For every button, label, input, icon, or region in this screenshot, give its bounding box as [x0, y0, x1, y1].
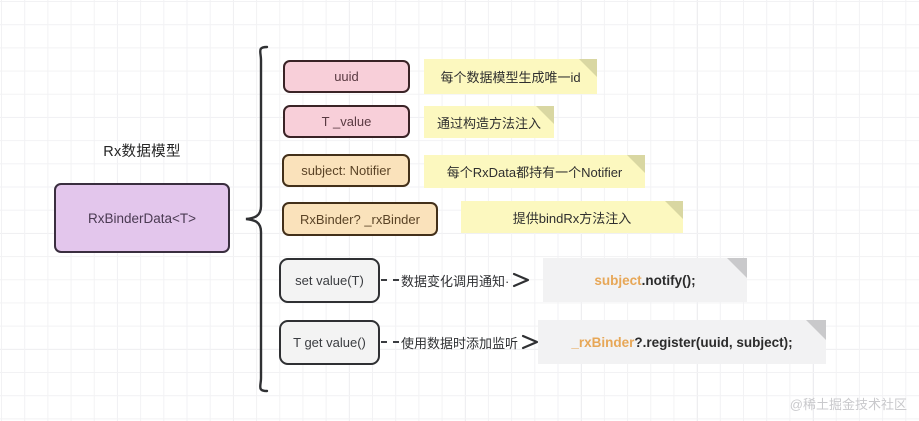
- note-rxbinder: 提供bindRx方法注入: [461, 201, 683, 233]
- diagram-canvas: Rx数据模型 RxBinderData<T> uuid 每个数据模型生成唯一id…: [0, 0, 919, 421]
- code-rest-notify: .notify();: [642, 273, 696, 288]
- field-chip-uuid[interactable]: uuid: [283, 60, 410, 93]
- grouping-brace: [243, 44, 269, 394]
- brace-icon: [243, 44, 269, 394]
- watermark: @稀土掘金技术社区: [790, 394, 907, 413]
- code-rest-register: ?.register(uuid, subject);: [634, 335, 792, 350]
- note-subject: 每个RxData都持有一个Notifier: [424, 155, 645, 188]
- note-fold-corner-icon: [665, 201, 683, 219]
- note-fold-corner-icon: [579, 59, 597, 77]
- note-fold-corner-icon: [727, 258, 747, 278]
- arrow-head-icon: [511, 271, 533, 289]
- field-chip-t-value[interactable]: T _value: [283, 105, 410, 138]
- connector-get-value: 使用数据时添加监听: [381, 327, 542, 357]
- connector-set-value: 数据变化调用通知·: [381, 265, 533, 295]
- code-keyword-subject: subject: [594, 273, 641, 288]
- dashed-line: [381, 279, 399, 281]
- code-line-register: _rxBinder?.register(uuid, subject);: [571, 335, 792, 350]
- note-t-value: 通过构造方法注入: [424, 106, 554, 138]
- note-fold-corner-icon: [806, 320, 826, 340]
- method-chip-set-value[interactable]: set value(T): [279, 258, 380, 303]
- root-title: Rx数据模型: [54, 140, 230, 161]
- field-chip-rxbinder[interactable]: RxBinder? _rxBinder: [282, 202, 438, 236]
- field-chip-subject[interactable]: subject: Notifier: [282, 154, 410, 187]
- code-line-notify: subject.notify();: [594, 273, 695, 288]
- note-uuid: 每个数据模型生成唯一id: [424, 59, 597, 94]
- dashed-line: [381, 341, 399, 343]
- code-keyword-rxbinder: _rxBinder: [571, 335, 634, 350]
- code-note-notify: subject.notify();: [543, 258, 747, 302]
- method-chip-get-value[interactable]: T get value(): [279, 320, 380, 365]
- code-note-register: _rxBinder?.register(uuid, subject);: [538, 320, 826, 364]
- root-node-rxbinderdata[interactable]: RxBinderData<T>: [54, 183, 230, 253]
- note-fold-corner-icon: [627, 155, 645, 173]
